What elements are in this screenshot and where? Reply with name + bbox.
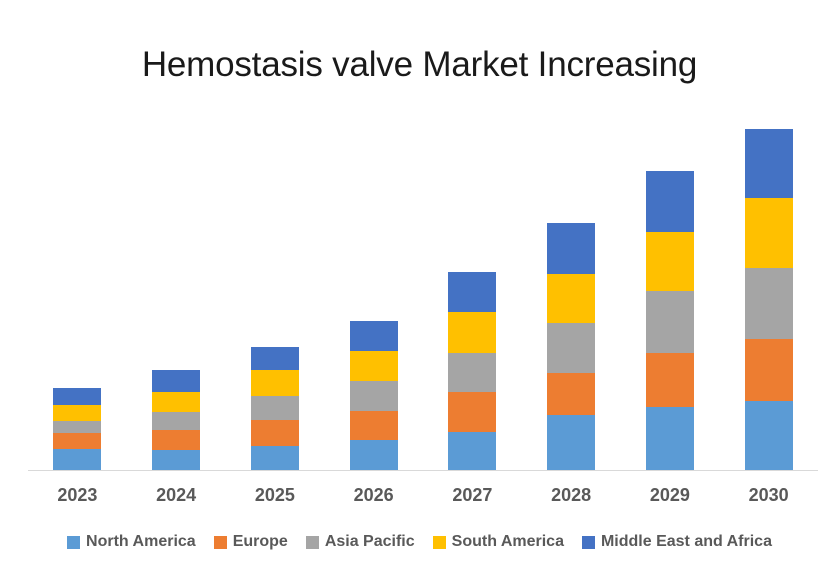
legend-label-asia-pacific: Asia Pacific xyxy=(325,533,415,551)
bar-segment-europe-2025[interactable] xyxy=(251,420,299,445)
x-tick-label-2024: 2024 xyxy=(132,485,220,506)
x-axis-line xyxy=(28,470,818,471)
bar-segment-middle-east-and-africa-2025[interactable] xyxy=(251,347,299,371)
bar-segment-south-america-2024[interactable] xyxy=(152,392,200,412)
bar-group-2026[interactable] xyxy=(330,95,418,471)
x-tick-label-2023: 2023 xyxy=(33,485,121,506)
bar-segment-asia-pacific-2027[interactable] xyxy=(448,353,496,392)
bar-segment-south-america-2026[interactable] xyxy=(350,351,398,381)
bar-segment-middle-east-and-africa-2029[interactable] xyxy=(646,171,694,232)
legend-label-middle-east-and-africa: Middle East and Africa xyxy=(601,533,772,551)
chart-legend: North AmericaEuropeAsia PacificSouth Ame… xyxy=(0,528,839,556)
bar-segment-asia-pacific-2026[interactable] xyxy=(350,381,398,411)
plot-area xyxy=(28,95,818,471)
legend-item-asia-pacific[interactable]: Asia Pacific xyxy=(306,533,415,551)
stacked-bar[interactable] xyxy=(53,388,101,471)
legend-label-north-america: North America xyxy=(86,533,196,551)
bar-segment-asia-pacific-2030[interactable] xyxy=(745,268,793,339)
bar-segment-asia-pacific-2023[interactable] xyxy=(53,421,101,433)
bar-segment-asia-pacific-2029[interactable] xyxy=(646,291,694,352)
stacked-bar[interactable] xyxy=(745,129,793,471)
bar-segment-south-america-2025[interactable] xyxy=(251,370,299,395)
bar-segment-asia-pacific-2028[interactable] xyxy=(547,323,595,373)
bar-group-2028[interactable] xyxy=(527,95,615,471)
legend-item-middle-east-and-africa[interactable]: Middle East and Africa xyxy=(582,533,772,551)
bar-group-2023[interactable] xyxy=(33,95,121,471)
bar-segment-middle-east-and-africa-2024[interactable] xyxy=(152,370,200,392)
legend-item-south-america[interactable]: South America xyxy=(433,533,564,551)
x-tick-label-2025: 2025 xyxy=(231,485,319,506)
bar-segment-europe-2026[interactable] xyxy=(350,411,398,440)
bar-segment-middle-east-and-africa-2023[interactable] xyxy=(53,388,101,405)
legend-label-europe: Europe xyxy=(233,533,288,551)
bar-segment-europe-2027[interactable] xyxy=(448,392,496,431)
bar-segment-middle-east-and-africa-2027[interactable] xyxy=(448,272,496,312)
chart-canvas: Hemostasis valve Market Increasing 20232… xyxy=(0,0,839,572)
stacked-bar[interactable] xyxy=(448,272,496,471)
legend-item-north-america[interactable]: North America xyxy=(67,533,196,551)
bar-segment-europe-2028[interactable] xyxy=(547,373,595,414)
bar-segment-north-america-2028[interactable] xyxy=(547,415,595,471)
bar-segment-south-america-2027[interactable] xyxy=(448,312,496,352)
bar-segment-asia-pacific-2025[interactable] xyxy=(251,396,299,420)
chart-title: Hemostasis valve Market Increasing xyxy=(0,44,839,86)
bar-segment-north-america-2024[interactable] xyxy=(152,450,200,471)
legend-label-south-america: South America xyxy=(452,533,564,551)
bar-segment-south-america-2028[interactable] xyxy=(547,274,595,324)
bar-segment-north-america-2027[interactable] xyxy=(448,432,496,471)
x-axis-tick-labels: 20232024202520262027202820292030 xyxy=(28,482,818,508)
bar-segment-south-america-2029[interactable] xyxy=(646,232,694,291)
bar-segment-middle-east-and-africa-2026[interactable] xyxy=(350,321,398,351)
x-tick-label-2026: 2026 xyxy=(330,485,418,506)
bar-segment-north-america-2026[interactable] xyxy=(350,440,398,471)
bar-group-2029[interactable] xyxy=(626,95,714,471)
bar-segment-middle-east-and-africa-2028[interactable] xyxy=(547,223,595,274)
x-tick-label-2028: 2028 xyxy=(527,485,615,506)
stacked-bar[interactable] xyxy=(547,223,595,471)
bar-group-2027[interactable] xyxy=(428,95,516,471)
x-tick-label-2030: 2030 xyxy=(725,485,813,506)
legend-swatch-icon-europe xyxy=(214,536,227,549)
legend-swatch-icon-middle-east-and-africa xyxy=(582,536,595,549)
bar-segment-north-america-2025[interactable] xyxy=(251,446,299,471)
bar-group-2024[interactable] xyxy=(132,95,220,471)
x-tick-label-2027: 2027 xyxy=(428,485,516,506)
stacked-bar[interactable] xyxy=(251,347,299,471)
bar-group-2025[interactable] xyxy=(231,95,319,471)
x-tick-label-2029: 2029 xyxy=(626,485,714,506)
stacked-bar[interactable] xyxy=(152,370,200,471)
bar-segment-south-america-2023[interactable] xyxy=(53,405,101,421)
legend-swatch-icon-north-america xyxy=(67,536,80,549)
bar-segment-europe-2024[interactable] xyxy=(152,430,200,451)
bar-group-2030[interactable] xyxy=(725,95,813,471)
bar-segment-europe-2023[interactable] xyxy=(53,433,101,449)
bar-segment-north-america-2023[interactable] xyxy=(53,449,101,471)
legend-item-europe[interactable]: Europe xyxy=(214,533,288,551)
legend-swatch-icon-south-america xyxy=(433,536,446,549)
bar-segment-north-america-2029[interactable] xyxy=(646,407,694,471)
stacked-bar[interactable] xyxy=(646,171,694,471)
bar-segment-north-america-2030[interactable] xyxy=(745,401,793,471)
bar-segment-asia-pacific-2024[interactable] xyxy=(152,412,200,430)
bar-segment-europe-2029[interactable] xyxy=(646,353,694,408)
legend-swatch-icon-asia-pacific xyxy=(306,536,319,549)
bar-series-layer xyxy=(28,95,818,471)
bar-segment-middle-east-and-africa-2030[interactable] xyxy=(745,129,793,199)
stacked-bar[interactable] xyxy=(350,321,398,471)
bar-segment-europe-2030[interactable] xyxy=(745,339,793,401)
bar-segment-south-america-2030[interactable] xyxy=(745,198,793,268)
